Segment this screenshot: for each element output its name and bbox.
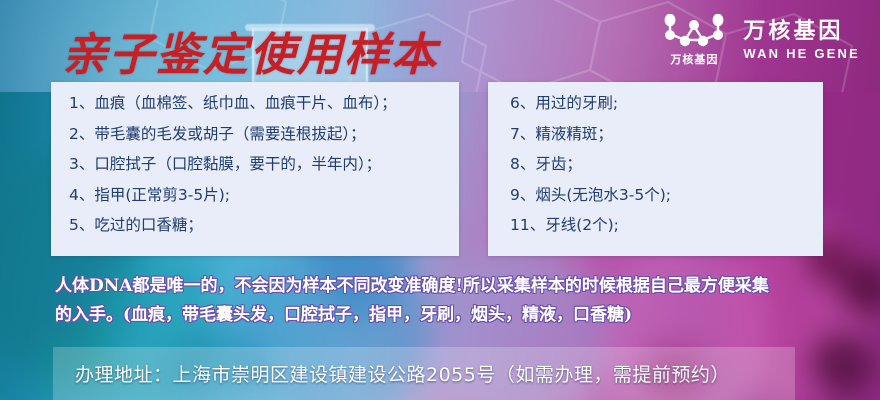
sample-panel-left: 1、血痕（血棉签、纸巾血、血痕干片、血布）； 2、带毛囊的毛发或胡子（需要连根拔… [51,82,459,256]
page-title: 亲子鉴定使用样本 [62,18,438,83]
logo-wordmark: 万核基因 WAN HE GENE [743,20,860,61]
logo-mark-sublabel: 万核基因 [670,51,718,67]
note-line-2: 的入手。(血痕，带毛囊头发，口腔拭子，指甲，牙刷，烟头，精液，口香糖) [55,301,835,330]
list-item: 3、口腔拭子（口腔黏膜，要干的，半年内）； [51,157,459,173]
list-item: 5、吃过的口香糖； [51,218,459,234]
list-item: 8、牙齿； [488,157,823,173]
logo-mark: 万核基因 [661,14,727,67]
logo-brand-cn: 万核基因 [743,20,860,45]
note-paragraph: 人体DNA都是唯一的，不会因为样本不同改变准确度!所以采集样本的时候根据自己最方… [55,272,835,330]
list-item: 4、指甲(正常剪3-5片); [51,188,459,204]
note-line-1: 人体DNA都是唯一的，不会因为样本不同改变准确度!所以采集样本的时候根据自己最方… [55,272,835,301]
list-item: 11、牙线(2个); [488,218,823,234]
bokeh-blob [812,334,872,394]
molecule-icon [661,14,727,48]
list-item: 1、血痕（血棉签、纸巾血、血痕干片、血布）； [51,96,459,112]
list-item: 7、精液精斑； [488,127,823,143]
address-bar: 办理地址：上海市崇明区建设镇建设公路2055号（如需办理，需提前预约） [53,347,795,400]
logo-brand-en: WAN HE GENE [743,47,860,62]
sample-panel-right: 6、用过的牙刷; 7、精液精斑； 8、牙齿； 9、烟头(无泡水3-5个); 11… [488,82,823,256]
address-text: 办理地址：上海市崇明区建设镇建设公路2055号（如需办理，需提前预约） [75,360,730,387]
promo-poster: 亲子鉴定使用样本 [0,0,880,400]
brand-logo: 万核基因 万核基因 WAN HE GENE [661,14,860,67]
list-item: 6、用过的牙刷; [488,96,823,112]
list-item: 9、烟头(无泡水3-5个); [488,188,823,204]
list-item: 2、带毛囊的毛发或胡子（需要连根拔起）； [51,127,459,143]
